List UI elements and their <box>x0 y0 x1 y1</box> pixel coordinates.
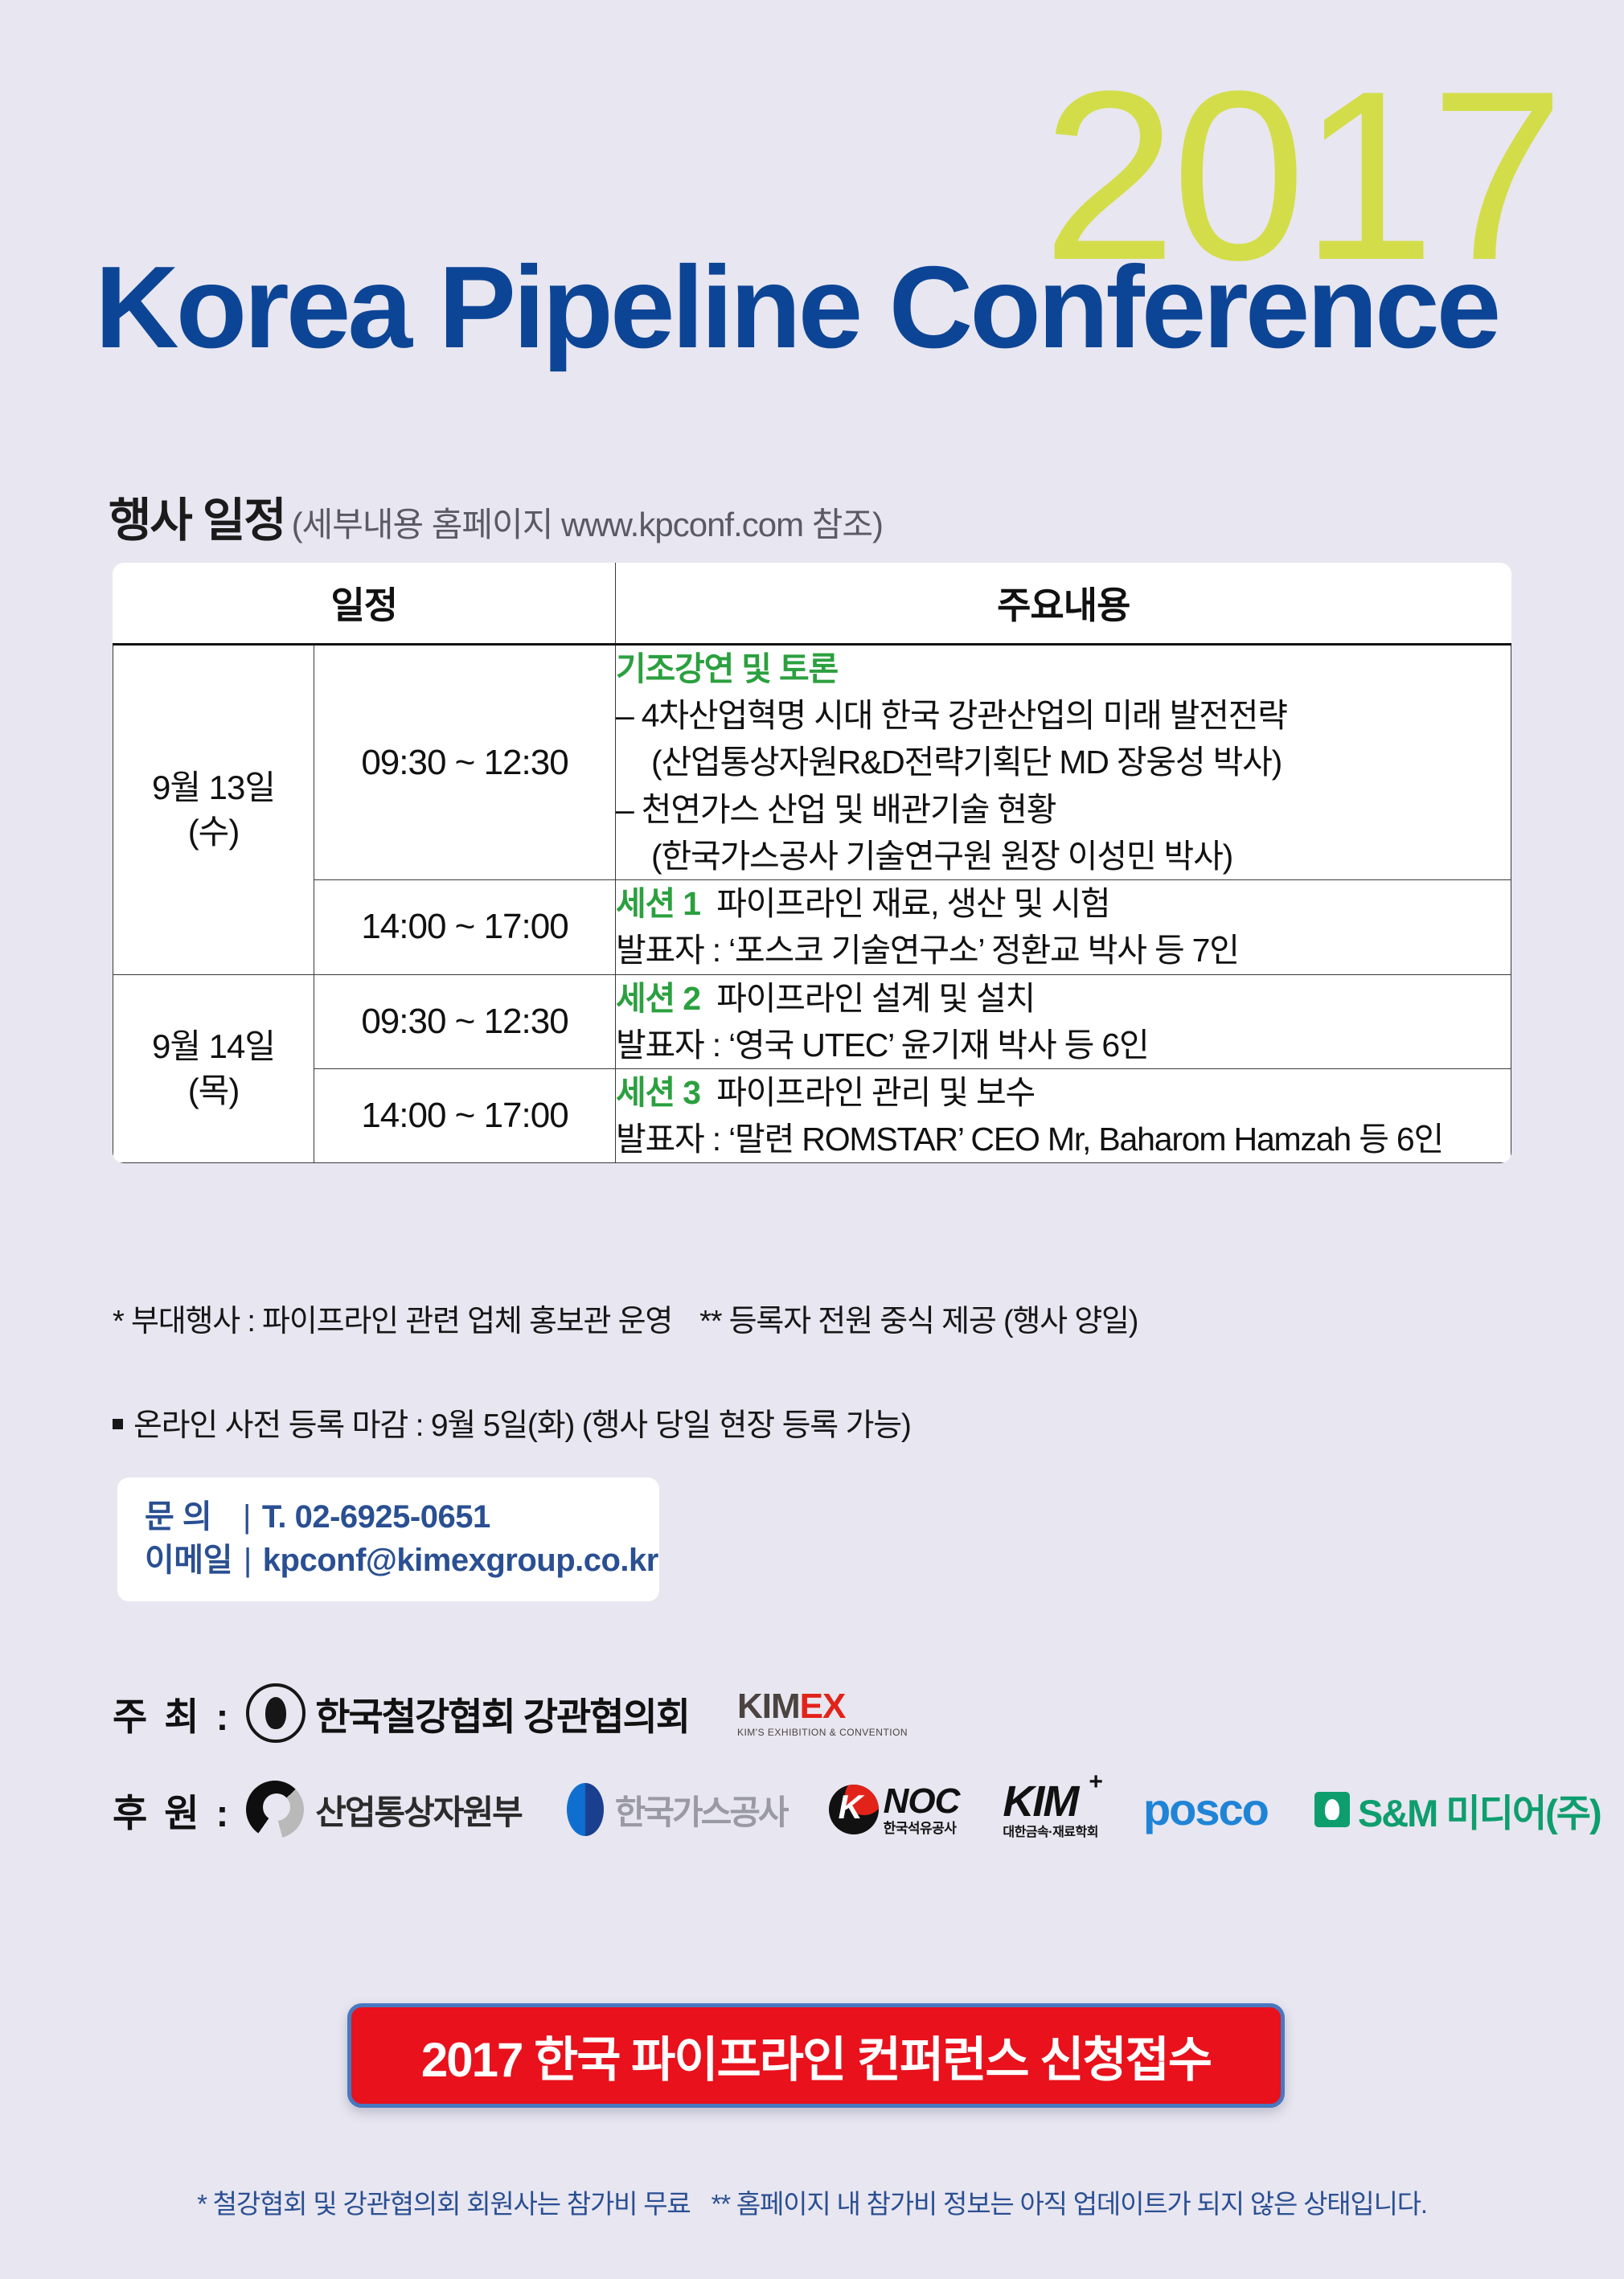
session1-label: 세션 1 <box>616 885 700 922</box>
kosa-name: 한국철강협회 강관협의회 <box>315 1686 689 1741</box>
registration-deadline-note: 온라인 사전 등록 마감 : 9월 5일(화) (행사 당일 현장 등록 가능) <box>113 1400 911 1445</box>
contact-email-value[interactable]: kpconf@kimexgroup.co.kr <box>263 1543 658 1578</box>
kim-name: KIM <box>1003 1777 1077 1826</box>
side-event-note: * 부대행사 : 파이프라인 관련 업체 홍보관 운영** 등록자 전원 중식 … <box>113 1296 1138 1340</box>
day2-date-cell: 9월 14일 (목) <box>113 974 314 1163</box>
kimex-accent: EX <box>800 1687 846 1726</box>
table-row: 9월 13일 (수) 09:30 ~ 12:30 기조강연 및 토론 – 4차산… <box>113 645 1511 880</box>
sponsor-sm-media: S&M 미디어(주) <box>1314 1782 1601 1838</box>
session2-heading: 세션 2 파이프라인 설계 및 설치 <box>616 975 1511 1022</box>
contact-email-label: 이메일 <box>145 1539 232 1582</box>
page-title: Korea Pipeline Conference <box>95 249 1498 366</box>
sponsor-kim: KIM+ 대한금속·재료학회 <box>1003 1780 1098 1839</box>
schedule-table: 일정 주요내용 9월 13일 (수) 09:30 ~ 12:30 기조강연 및 … <box>113 563 1511 1163</box>
keynote-line-3: – 천연가스 산업 및 배관기술 현황 <box>616 786 1511 833</box>
day1-date-cell: 9월 13일 (수) <box>113 645 314 975</box>
keynote-line-2: (산업통상자원R&D전략기획단 MD 장웅성 박사) <box>616 739 1511 785</box>
table-row: 14:00 ~ 17:00 세션 3 파이프라인 관리 및 보수 발표자 : ‘… <box>113 1068 1511 1162</box>
square-bullet-icon <box>113 1419 123 1429</box>
session2-speakers: 발표자 : ‘영국 UTEC’ 윤기재 박사 등 6인 <box>616 1022 1511 1068</box>
day2-slot1-content: 세션 2 파이프라인 설계 및 설치 발표자 : ‘영국 UTEC’ 윤기재 박… <box>616 974 1511 1068</box>
day2-date: 9월 14일 <box>113 1024 314 1068</box>
organizers-label: 주 최 : <box>113 1686 232 1741</box>
kimex-tagline: KIM'S EXHIBITION & CONVENTION <box>737 1728 908 1737</box>
sm-media-icon <box>1314 1792 1350 1827</box>
sponsor-knoc: NOC 한국석유공사 <box>829 1784 960 1835</box>
motie-taegeuk-icon <box>246 1781 304 1838</box>
session1-heading: 세션 1 파이프라인 재료, 생산 및 시험 <box>616 880 1511 927</box>
table-row: 9월 14일 (목) 09:30 ~ 12:30 세션 2 파이프라인 설계 및… <box>113 974 1511 1068</box>
contact-box: 문 의|T. 02-6925-0651 이메일|kpconf@kimexgrou… <box>117 1478 659 1601</box>
knoc-wordmark: NOC 한국석유공사 <box>884 1784 960 1835</box>
contact-email-line: 이메일|kpconf@kimexgroup.co.kr <box>145 1539 659 1582</box>
session1-subject: 파이프라인 재료, 생산 및 시험 <box>716 885 1109 922</box>
lunch-text: ** 등록자 전원 중식 제공 (행사 양일) <box>699 1305 1138 1338</box>
day2-weekday: (목) <box>113 1068 314 1113</box>
column-header-content: 주요내용 <box>616 563 1511 645</box>
kimex-logo-icon: KIMEX KIM'S EXHIBITION & CONVENTION <box>737 1689 908 1737</box>
bottom-note-update: ** 홈페이지 내 참가비 정보는 아직 업데이트가 되지 않은 상태입니다. <box>712 2189 1427 2219</box>
keynote-line-1: – 4차산업혁명 시대 한국 강관산업의 미래 발전전략 <box>616 692 1511 739</box>
kogas-leaf-icon <box>567 1783 604 1836</box>
contact-separator-2: | <box>244 1543 252 1578</box>
session3-label: 세션 3 <box>616 1074 700 1111</box>
contact-phone-label: 문 의 <box>145 1495 232 1539</box>
side-event-text: * 부대행사 : 파이프라인 관련 업체 홍보관 운영 <box>113 1305 672 1338</box>
day1-date: 9월 13일 <box>113 765 314 810</box>
organizer-kimex: KIMEX KIM'S EXHIBITION & CONVENTION <box>737 1689 908 1737</box>
sponsors-label: 후 원 : <box>113 1782 232 1838</box>
kim-plus-icon: KIM+ 대한금속·재료학회 <box>1003 1780 1098 1839</box>
session2-label: 세션 2 <box>616 980 700 1017</box>
sm-media-name: S&M 미디어(주) <box>1358 1782 1601 1838</box>
knoc-logo-icon <box>829 1785 879 1834</box>
day1-weekday: (수) <box>113 810 314 854</box>
registration-cta-label: 2017 한국 파이프라인 컨퍼런스 신청접수 <box>421 2021 1211 2091</box>
session1-speakers: 발표자 : ‘포스코 기술연구소’ 정환교 박사 등 7인 <box>616 927 1511 973</box>
sponsor-posco: posco <box>1143 1787 1268 1832</box>
session3-heading: 세션 3 파이프라인 관리 및 보수 <box>616 1069 1511 1116</box>
column-header-date: 일정 <box>113 563 616 645</box>
sponsor-kogas: 한국가스공사 <box>567 1783 787 1836</box>
session2-subject: 파이프라인 설계 및 설치 <box>716 980 1035 1017</box>
registration-deadline-text: 온라인 사전 등록 마감 : 9월 5일(화) (행사 당일 현장 등록 가능) <box>133 1408 911 1443</box>
sponsor-motie: 산업통상자원부 <box>246 1781 521 1838</box>
keynote-line-4: (한국가스공사 기술연구원 원장 이성민 박사) <box>616 833 1511 879</box>
kimex-name: KIM <box>737 1687 800 1726</box>
kogas-name: 한국가스공사 <box>615 1785 787 1834</box>
day1-slot2-content: 세션 1 파이프라인 재료, 생산 및 시험 발표자 : ‘포스코 기술연구소’… <box>616 880 1511 974</box>
schedule-heading-main: 행사 일정 <box>109 494 285 547</box>
motie-name: 산업통상자원부 <box>315 1785 521 1834</box>
day2-slot2-content: 세션 3 파이프라인 관리 및 보수 발표자 : ‘말련 ROMSTAR’ CE… <box>616 1068 1511 1162</box>
day2-slot1-time: 09:30 ~ 12:30 <box>314 974 616 1068</box>
contact-phone-value[interactable]: T. 02-6925-0651 <box>262 1499 490 1535</box>
contact-phone-line: 문 의|T. 02-6925-0651 <box>145 1495 659 1539</box>
day1-slot1-time: 09:30 ~ 12:30 <box>314 645 616 880</box>
sponsors-row: 후 원 : 산업통상자원부 한국가스공사 NOC 한국석유공사 KIM+ 대한금… <box>113 1771 1601 1848</box>
kim-sub: 대한금속·재료학회 <box>1003 1826 1098 1839</box>
bottom-notes: * 철강협회 및 강관협의회 회원사는 참가비 무료** 홈페이지 내 참가비 … <box>0 2183 1624 2221</box>
knoc-sub: 한국석유공사 <box>884 1822 960 1835</box>
day1-slot1-content: 기조강연 및 토론 – 4차산업혁명 시대 한국 강관산업의 미래 발전전략 (… <box>616 645 1511 880</box>
schedule-heading: 행사 일정(세부내용 홈페이지 www.kpconf.com 참조) <box>109 482 883 550</box>
organizer-kosa: 한국철강협회 강관협의회 <box>246 1683 689 1743</box>
table-row: 14:00 ~ 17:00 세션 1 파이프라인 재료, 생산 및 시험 발표자… <box>113 880 1511 974</box>
organizers-row: 주 최 : 한국철강협회 강관협의회 KIMEX KIM'S EXHIBITIO… <box>113 1674 908 1752</box>
contact-separator: | <box>243 1499 251 1535</box>
schedule-panel: 일정 주요내용 9월 13일 (수) 09:30 ~ 12:30 기조강연 및 … <box>113 563 1511 1163</box>
plus-icon: + <box>1089 1770 1103 1794</box>
day1-slot2-time: 14:00 ~ 17:00 <box>314 880 616 974</box>
kosa-seal-icon <box>246 1683 306 1743</box>
table-header-row: 일정 주요내용 <box>113 563 1511 645</box>
poster-header: 2017 Korea Pipeline Conference <box>0 0 1624 434</box>
session3-subject: 파이프라인 관리 및 보수 <box>716 1074 1035 1111</box>
registration-cta-button[interactable]: 2017 한국 파이프라인 컨퍼런스 신청접수 <box>347 2003 1285 2108</box>
knoc-name: NOC <box>884 1781 960 1821</box>
bottom-note-free: * 철강협회 및 강관협의회 회원사는 참가비 무료 <box>197 2189 691 2219</box>
posco-logo-icon: posco <box>1143 1787 1268 1832</box>
day2-slot2-time: 14:00 ~ 17:00 <box>314 1068 616 1162</box>
schedule-heading-sub: (세부내용 홈페이지 www.kpconf.com 참조) <box>292 506 883 543</box>
session3-speakers: 발표자 : ‘말련 ROMSTAR’ CEO Mr, Baharom Hamza… <box>616 1116 1511 1162</box>
keynote-title: 기조강연 및 토론 <box>616 646 1511 692</box>
